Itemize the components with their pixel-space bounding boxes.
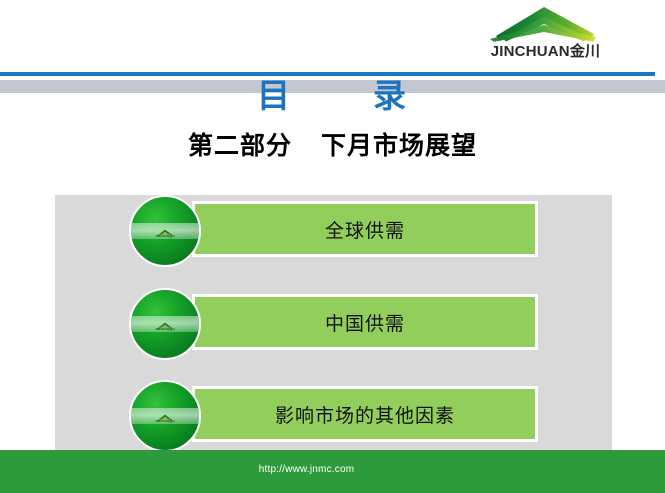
orb-highlight-band: JINCHUAN金川 [131,316,199,332]
orb-mini-logo-icon: JINCHUAN金川 [152,224,178,237]
jinchuan-orb-icon: JINCHUAN金川 [129,380,201,452]
section-subtitle: 第二部分 下月市场展望 [0,128,665,164]
slide-canvas: JINCHUAN金川 目 录 第二部分 下月市场展望 JINCHUAN金川 全球… [0,0,665,493]
orb-mini-logo-icon: JINCHUAN金川 [152,317,178,330]
jinchuan-orb-icon: JINCHUAN金川 [129,195,201,267]
brand-wordmark: JINCHUAN金川 [478,42,613,62]
agenda-label-2: 中国供需 [325,309,405,336]
jinchuan-mountain-logo-icon [486,4,604,42]
page-title: 目 录 [0,72,665,120]
agenda-item-2[interactable]: JINCHUAN金川 中国供需 [0,288,665,360]
agenda-item-3[interactable]: JINCHUAN金川 影响市场的其他因素 [0,380,665,452]
agenda-bar-2[interactable]: 中国供需 [192,294,538,350]
agenda-bar-3[interactable]: 影响市场的其他因素 [192,386,538,442]
agenda-label-3: 影响市场的其他因素 [275,401,455,428]
orb-mini-logo-icon: JINCHUAN金川 [152,409,178,422]
footer-url[interactable]: http://www.jnmc.com [0,464,665,475]
agenda-item-1[interactable]: JINCHUAN金川 全球供需 [0,195,665,267]
jinchuan-orb-icon: JINCHUAN金川 [129,288,201,360]
brand-logo: JINCHUAN金川 [478,4,613,66]
orb-mini-logo-text: JINCHUAN金川 [153,235,176,239]
orb-highlight-band: JINCHUAN金川 [131,408,199,424]
orb-mini-logo-text: JINCHUAN金川 [153,420,176,424]
footer-bar: http://www.jnmc.com [0,450,665,493]
orb-mini-logo-text: JINCHUAN金川 [153,328,176,332]
agenda-label-1: 全球供需 [325,216,405,243]
agenda-bar-1[interactable]: 全球供需 [192,201,538,257]
orb-highlight-band: JINCHUAN金川 [131,223,199,239]
